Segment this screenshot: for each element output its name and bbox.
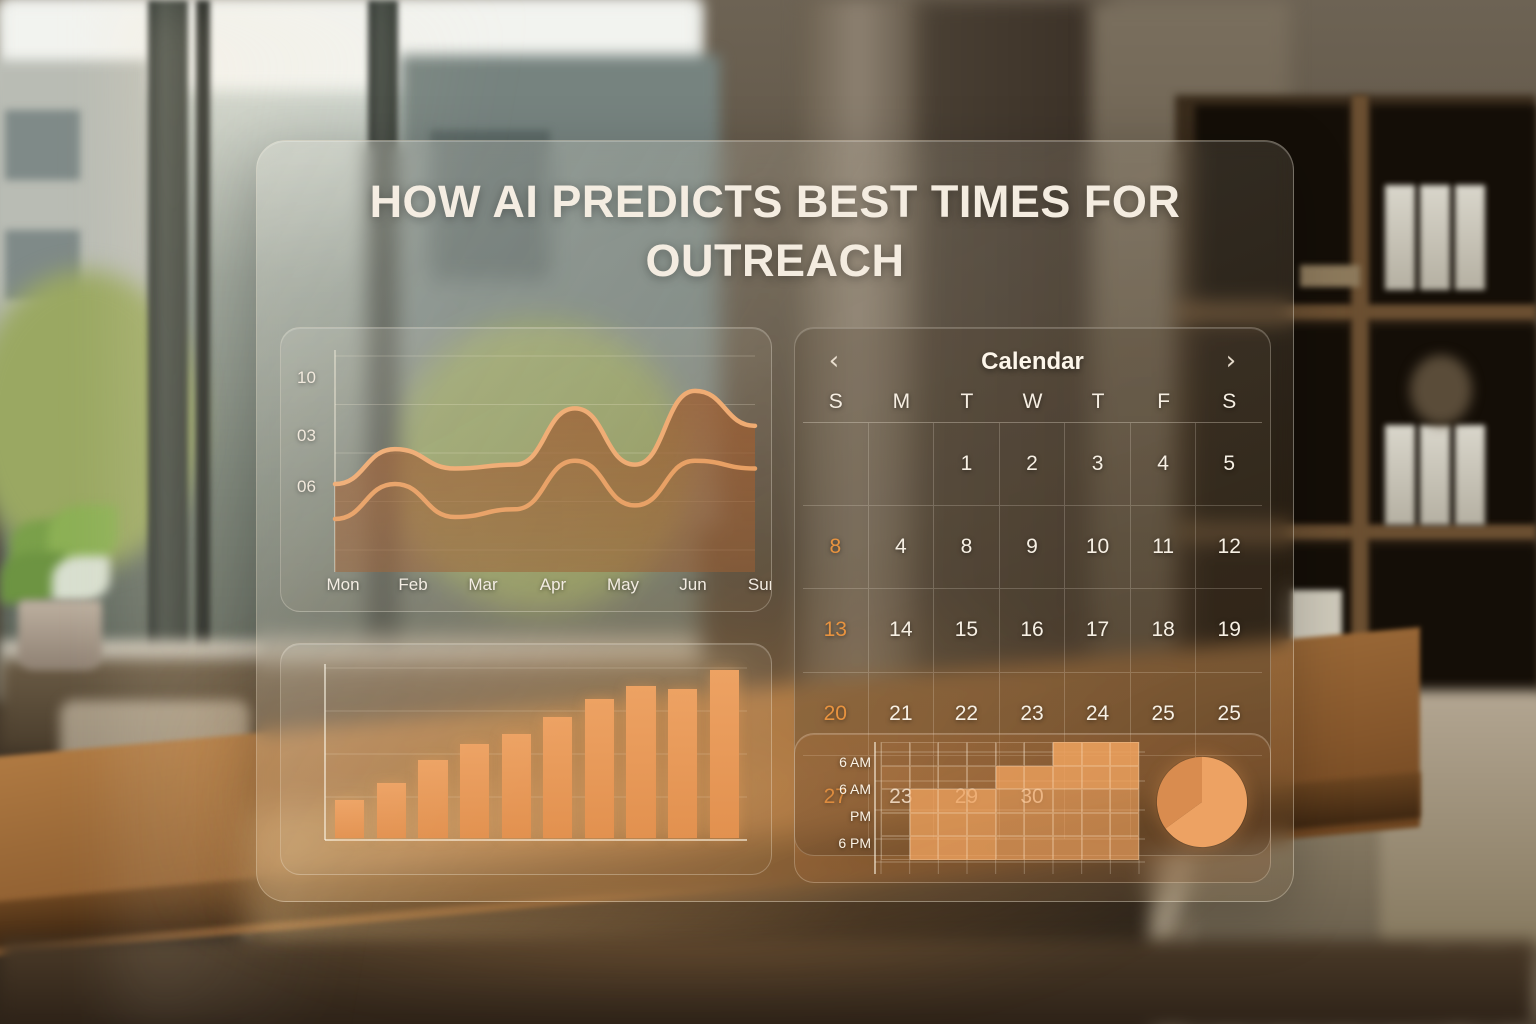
heatmap-cell[interactable] [938, 742, 967, 766]
heatmap-cell[interactable] [967, 766, 996, 790]
heatmap-cell[interactable] [996, 742, 1025, 766]
bar-chart-panel [280, 643, 772, 875]
heatmap-cell[interactable] [1024, 742, 1053, 766]
heatmap-cell[interactable] [1110, 766, 1139, 790]
bar[interactable] [710, 670, 739, 838]
heatmap-cell[interactable] [996, 836, 1025, 860]
calendar-day-header: S [1196, 390, 1262, 414]
chevron-right-icon[interactable]: › [1218, 349, 1244, 375]
heatmap-cell[interactable] [1053, 789, 1082, 813]
heatmap-panel: 6 AM6 AMPM6 PM [794, 733, 1271, 883]
calendar-day-cell[interactable]: 16 [1000, 589, 1066, 672]
calendar-empty-cell [803, 423, 869, 506]
binder [1455, 185, 1485, 290]
calendar-day-cell[interactable]: 4 [869, 506, 935, 589]
heatmap-cell[interactable] [1082, 789, 1111, 813]
heatmap-cell[interactable] [910, 742, 939, 766]
calendar-day-cell[interactable]: 8 [934, 506, 1000, 589]
heatmap-cell[interactable] [1110, 813, 1139, 837]
heatmap-cell[interactable] [910, 836, 939, 860]
building-window [5, 110, 80, 180]
x-axis-tick-label: Sun [748, 575, 772, 595]
x-axis-tick-label: Mar [468, 575, 497, 595]
heatmap-cell[interactable] [1082, 766, 1111, 790]
calendar-day-header: F [1131, 390, 1197, 414]
bar[interactable] [502, 734, 531, 838]
plant-flower [52, 556, 110, 602]
calendar-day-cell[interactable]: 14 [869, 589, 935, 672]
binder [1385, 425, 1415, 525]
calendar-day-cell[interactable]: 9 [1000, 506, 1066, 589]
binder [1455, 425, 1485, 525]
calendar-day-cell[interactable]: 13 [803, 589, 869, 672]
binder [1420, 185, 1450, 290]
bar[interactable] [460, 744, 489, 838]
heatmap-cell[interactable] [1024, 766, 1053, 790]
calendar-day-cell[interactable]: 12 [1196, 506, 1262, 589]
heatmap-cell[interactable] [910, 766, 939, 790]
heatmap-cell[interactable] [881, 789, 910, 813]
heatmap-cell[interactable] [1110, 742, 1139, 766]
calendar-day-cell[interactable]: 8 [803, 506, 869, 589]
heatmap-cell[interactable] [1024, 789, 1053, 813]
x-axis-tick-label: Apr [540, 575, 566, 595]
binder [1420, 425, 1450, 525]
heatmap-cell[interactable] [881, 836, 910, 860]
plant-pot [18, 600, 102, 670]
x-axis-tick-label: Mon [326, 575, 359, 595]
bar[interactable] [668, 689, 697, 838]
heatmap-cell[interactable] [910, 789, 939, 813]
heatmap-cell[interactable] [1082, 836, 1111, 860]
calendar-day-cell[interactable]: 11 [1131, 506, 1197, 589]
calendar-title: Calendar [847, 348, 1218, 376]
heatmap-cell[interactable] [1053, 742, 1082, 766]
heatmap-cell[interactable] [996, 789, 1025, 813]
bar[interactable] [335, 800, 364, 838]
chevron-left-icon[interactable]: ‹ [821, 349, 847, 375]
shelf-vase [1410, 355, 1472, 425]
bar[interactable] [626, 686, 655, 838]
calendar-day-header: M [869, 390, 935, 414]
calendar-header: ‹ Calendar › [795, 344, 1270, 380]
calendar-day-header: S [803, 390, 869, 414]
calendar-day-cell[interactable]: 5 [1196, 423, 1262, 506]
shelf-book [1300, 265, 1360, 287]
y-axis-tick-label: 03 [297, 426, 316, 446]
heatmap-cell[interactable] [967, 742, 996, 766]
heatmap-cell[interactable] [938, 789, 967, 813]
calendar-day-cell[interactable]: 19 [1196, 589, 1262, 672]
calendar-day-cell[interactable]: 3 [1065, 423, 1131, 506]
heatmap-cell[interactable] [996, 813, 1025, 837]
dashboard-glass-card: HOW AI PREDICTS BEST TIMES FOR OUTREACH … [256, 140, 1294, 902]
heatmap-cell[interactable] [1082, 813, 1111, 837]
calendar-day-header: W [1000, 390, 1066, 414]
x-axis-tick-label: May [607, 575, 639, 595]
heatmap-cell[interactable] [1053, 836, 1082, 860]
y-axis-tick-label: 10 [297, 368, 316, 388]
bar[interactable] [585, 699, 614, 838]
heatmap-cell[interactable] [938, 836, 967, 860]
heatmap-cell[interactable] [1024, 813, 1053, 837]
heatmap-cell[interactable] [938, 766, 967, 790]
bar[interactable] [418, 760, 447, 838]
heatmap-cell[interactable] [967, 813, 996, 837]
x-axis-tick-label: Jun [679, 575, 706, 595]
heatmap-cell[interactable] [1053, 813, 1082, 837]
line-chart [281, 328, 771, 611]
heatmap-grid[interactable] [881, 742, 1139, 860]
heatmap-cell[interactable] [1024, 836, 1053, 860]
calendar-day-header: T [934, 390, 1000, 414]
heatmap-cell[interactable] [910, 813, 939, 837]
heatmap-cell[interactable] [881, 813, 910, 837]
heatmap-cell[interactable] [996, 766, 1025, 790]
calendar-day-header: T [1065, 390, 1131, 414]
heatmap-cell[interactable] [967, 789, 996, 813]
line-chart-panel: 100306MonFebMarAprMayJunSun [280, 327, 772, 612]
binder [1385, 185, 1415, 290]
x-axis-tick-label: Feb [398, 575, 427, 595]
calendar-day-cell[interactable]: 1 [934, 423, 1000, 506]
calendar-day-cell[interactable]: 15 [934, 589, 1000, 672]
heatmap-cell[interactable] [881, 766, 910, 790]
line-chart-svg [281, 328, 771, 611]
calendar-day-cell[interactable]: 4 [1131, 423, 1197, 506]
calendar-day-cell[interactable]: 17 [1065, 589, 1131, 672]
heatmap-cell[interactable] [967, 836, 996, 860]
bar[interactable] [377, 783, 406, 838]
bar-chart-bars [329, 670, 745, 838]
heatmap-cell[interactable] [1082, 742, 1111, 766]
bar[interactable] [543, 717, 572, 838]
share-pie-chart[interactable] [1156, 756, 1248, 848]
y-axis-tick-label: 06 [297, 477, 316, 497]
calendar-day-cell[interactable]: 2 [1000, 423, 1066, 506]
heatmap-cell[interactable] [1110, 789, 1139, 813]
calendar-empty-cell [869, 423, 935, 506]
heatmap-cell[interactable] [881, 742, 910, 766]
calendar-day-cell[interactable]: 10 [1065, 506, 1131, 589]
page-title: HOW AI PREDICTS BEST TIMES FOR OUTREACH [257, 173, 1293, 290]
calendar-day-cell[interactable]: 18 [1131, 589, 1197, 672]
heatmap-cell[interactable] [1110, 836, 1139, 860]
heatmap-cell[interactable] [1053, 766, 1082, 790]
calendar-day-headers: SMTWTFS [803, 390, 1262, 414]
heatmap-cell[interactable] [938, 813, 967, 837]
